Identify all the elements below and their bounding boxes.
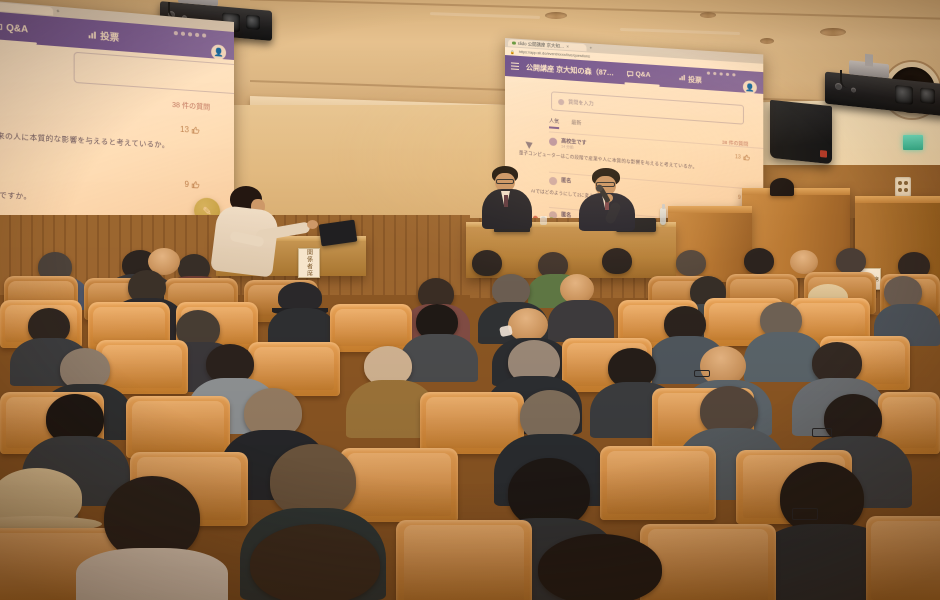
glasses-icon bbox=[496, 179, 514, 184]
lectern-top bbox=[742, 188, 850, 195]
water-bottle bbox=[660, 208, 666, 225]
event-title: 公開講座 京大知の森（87… bbox=[526, 62, 614, 78]
seat bbox=[866, 516, 940, 600]
projector-stem bbox=[865, 54, 873, 67]
attendee-body-foreground bbox=[76, 548, 228, 600]
thumbs-up-icon bbox=[191, 125, 200, 135]
ceiling-recess-light bbox=[760, 38, 774, 44]
attendee-head-foreground bbox=[538, 534, 662, 600]
glasses-icon bbox=[792, 508, 818, 520]
like-count-value: 13 bbox=[180, 125, 189, 135]
seat bbox=[396, 520, 532, 600]
like-button[interactable]: 13 bbox=[735, 153, 751, 161]
like-count-value: 9 bbox=[185, 180, 190, 189]
question-count: 38 件の質問 bbox=[172, 100, 210, 113]
tab-poll-label: 投票 bbox=[688, 73, 702, 84]
panelist-right bbox=[578, 168, 640, 230]
attendee-head bbox=[676, 250, 706, 276]
bar-chart-icon bbox=[679, 74, 686, 82]
browser-toolbar-icons bbox=[174, 31, 206, 38]
hamburger-icon[interactable] bbox=[511, 62, 519, 70]
reserved-seat-sign-left-text: 関係者席 bbox=[305, 249, 314, 277]
question-input-avatar-icon bbox=[558, 98, 564, 104]
like-count-value: 9 bbox=[738, 194, 741, 200]
glasses-icon bbox=[812, 428, 832, 437]
thumbs-up-icon bbox=[191, 180, 200, 190]
projector-lens-icon bbox=[246, 15, 260, 30]
favicon-icon bbox=[512, 41, 515, 45]
question-text: にするのですか。 bbox=[0, 189, 32, 202]
browser-toolbar-icons bbox=[707, 71, 736, 76]
lectern-top bbox=[668, 206, 752, 213]
attendee-head-bald bbox=[508, 308, 548, 342]
new-tab-icon[interactable]: + bbox=[56, 9, 59, 16]
attendee-head-foreground bbox=[250, 524, 380, 600]
bar-chart-icon bbox=[87, 29, 97, 39]
tab-qa[interactable]: Q&A bbox=[0, 21, 28, 34]
attendee-body bbox=[548, 300, 614, 342]
attendee-head-bald bbox=[790, 250, 818, 274]
sort-tab-popular[interactable]: 人気 bbox=[549, 117, 559, 129]
seat bbox=[600, 446, 716, 520]
qa-panel: 38 件の質問 13 段階で将来の人に本質的な影響を与えると考えているか。 9 bbox=[0, 40, 234, 237]
like-count[interactable]: 9 bbox=[185, 180, 201, 190]
attendee-head bbox=[270, 444, 356, 518]
question-avatar bbox=[549, 137, 557, 146]
question-input-placeholder: 質問を入力 bbox=[568, 99, 593, 108]
seat bbox=[126, 396, 230, 458]
like-count-value: 13 bbox=[735, 154, 741, 161]
wall-control-panel[interactable] bbox=[895, 177, 911, 197]
ceiling-recess-light bbox=[700, 12, 716, 18]
new-tab-icon[interactable]: + bbox=[590, 45, 593, 50]
tab-poll[interactable]: 投票 bbox=[679, 72, 702, 84]
drinking-glass bbox=[540, 216, 547, 225]
speech-bubble-icon bbox=[626, 70, 633, 78]
ceiling-speaker-icon bbox=[770, 100, 832, 165]
lectern-top bbox=[855, 196, 940, 203]
projector-lens-icon bbox=[920, 88, 935, 105]
attendee-head bbox=[602, 248, 632, 274]
attendee-bucket-hat bbox=[0, 468, 82, 526]
projector-knob bbox=[851, 87, 856, 93]
sort-tab-recent[interactable]: 最新 bbox=[571, 119, 581, 131]
necktie bbox=[504, 195, 508, 207]
speech-bubble-icon bbox=[0, 22, 3, 32]
ceiling-recess-light bbox=[820, 28, 846, 36]
sort-tabs: 人気 最新 bbox=[549, 117, 581, 131]
tab-poll-label: 投票 bbox=[100, 28, 119, 43]
question-text: 段階で将来の人に本質的な影響を与えると考えているか。 bbox=[0, 129, 169, 151]
question-author: 匿名 bbox=[561, 177, 571, 185]
question-timestamp: 14 分前 bbox=[561, 144, 573, 150]
staff-head bbox=[770, 178, 794, 196]
tab-qa-label: Q&A bbox=[6, 22, 28, 34]
panelist-left bbox=[480, 166, 536, 228]
question-avatar bbox=[549, 177, 557, 186]
attendee-body bbox=[400, 334, 478, 382]
mouse-pointer-icon bbox=[525, 139, 534, 149]
lecture-hall-photo: Q&A + Q&A 投票 bbox=[0, 0, 940, 600]
attendee-head bbox=[472, 250, 502, 276]
tab-qa-label: Q&A bbox=[636, 71, 651, 79]
projector-mount bbox=[178, 0, 218, 6]
seat bbox=[340, 448, 458, 522]
question-input[interactable] bbox=[74, 52, 234, 97]
projector-lens-icon bbox=[895, 85, 913, 105]
hand bbox=[307, 220, 318, 229]
reserved-seat-sign-left: 関係者席 bbox=[298, 248, 320, 278]
tab-poll[interactable]: 投票 bbox=[87, 27, 119, 43]
like-count[interactable]: 13 bbox=[180, 125, 200, 135]
attendee-head bbox=[836, 248, 866, 274]
glasses-icon bbox=[694, 370, 710, 377]
ceiling-recess-light bbox=[545, 12, 567, 19]
seat bbox=[330, 304, 412, 352]
left-screen-content: Q&A + Q&A 投票 bbox=[0, 0, 234, 237]
attendee-head bbox=[744, 248, 774, 274]
tab-qa[interactable]: Q&A bbox=[626, 70, 650, 79]
projector-cable bbox=[840, 70, 856, 88]
exit-sign bbox=[903, 135, 923, 150]
lock-icon: 🔒 bbox=[510, 49, 515, 54]
left-projection-screen: Q&A + Q&A 投票 bbox=[0, 0, 234, 237]
thumbs-up-icon bbox=[743, 154, 750, 162]
close-tab-icon[interactable]: × bbox=[566, 44, 569, 49]
